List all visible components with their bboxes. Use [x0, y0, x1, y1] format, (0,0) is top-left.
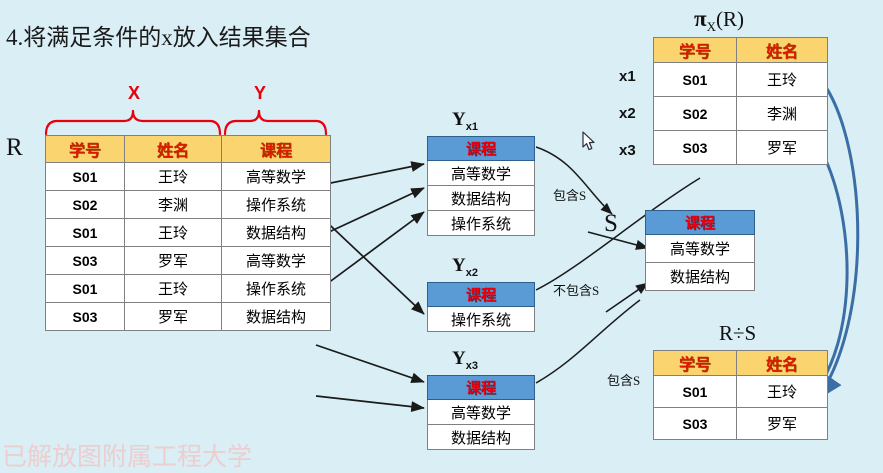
cell-xuehao: S03: [654, 408, 737, 440]
relation-s-label: S: [604, 210, 618, 238]
table-header-row: 课程: [428, 137, 535, 161]
y-group-2-subscript: x2: [466, 267, 478, 279]
projection-title: πX(R): [694, 6, 744, 35]
table-header-row: 课程: [646, 211, 755, 235]
cell-kecheng: 高等数学: [646, 235, 755, 263]
y-group-3-table[interactable]: 课程 高等数学 数据结构: [427, 375, 535, 450]
column-header-kecheng: 课程: [428, 376, 535, 400]
cell-xingming: 王玲: [125, 219, 222, 247]
column-header-kecheng: 课程: [222, 136, 331, 163]
column-header-xingming: 姓名: [737, 351, 828, 376]
cell-xuehao: S01: [654, 376, 737, 408]
column-header-kecheng: 课程: [428, 283, 535, 307]
cell-kecheng: 高等数学: [222, 247, 331, 275]
cell-xingming: 罗军: [125, 247, 222, 275]
page-title: 4.将满足条件的x放入结果集合: [6, 18, 311, 52]
projection-row-label-x3: x3: [619, 142, 636, 159]
cell-xuehao: S03: [46, 303, 125, 331]
cell-kecheng: 数据结构: [646, 263, 755, 291]
table-row: 数据结构: [428, 186, 535, 211]
cell-xuehao: S01: [46, 163, 125, 191]
cell-xingming: 罗军: [125, 303, 222, 331]
table-header-row: 课程: [428, 283, 535, 307]
column-header-xuehao: 学号: [654, 38, 737, 63]
table-row: S03罗军: [654, 131, 828, 165]
y-group-1-note: 包含S: [553, 185, 586, 204]
projection-row-label-x2: x2: [619, 105, 636, 122]
cell-xuehao: S02: [654, 97, 737, 131]
y-group-2-label: Yx2: [452, 255, 478, 279]
projection-row-label-x1: x1: [619, 68, 636, 85]
y-group-1-label: Yx1: [452, 109, 478, 133]
y-group-3-name: Y: [452, 348, 466, 369]
cell-xingming: 罗军: [737, 408, 828, 440]
cell-kecheng: 高等数学: [222, 163, 331, 191]
y-group-1-name: Y: [452, 109, 466, 130]
brace-y: [225, 111, 326, 134]
division-title: R÷S: [719, 321, 756, 346]
relation-r-table[interactable]: 学号 姓名 课程 S01王玲高等数学 S02李渊操作系统 S01王玲数据结构 S…: [45, 135, 331, 331]
brace-x: [46, 111, 220, 134]
table-row: S01王玲高等数学: [46, 163, 331, 191]
table-row: 操作系统: [428, 211, 535, 236]
table-row: S03罗军高等数学: [46, 247, 331, 275]
cell-kecheng: 数据结构: [428, 186, 535, 211]
cell-xuehao: S01: [46, 219, 125, 247]
cell-kecheng: 高等数学: [428, 400, 535, 425]
column-header-kecheng: 课程: [428, 137, 535, 161]
cell-kecheng: 操作系统: [222, 191, 331, 219]
cell-xingming: 王玲: [125, 275, 222, 303]
table-row: 操作系统: [428, 307, 535, 332]
table-header-row: 学号 姓名 课程: [46, 136, 331, 163]
cell-xuehao: S02: [46, 191, 125, 219]
column-header-xuehao: 学号: [46, 136, 125, 163]
cell-kecheng: 操作系统: [428, 307, 535, 332]
arrows-into-s: [588, 232, 648, 312]
cell-kecheng: 高等数学: [428, 161, 535, 186]
table-row: 高等数学: [428, 400, 535, 425]
slide-canvas: 4.将满足条件的x放入结果集合: [0, 0, 883, 460]
table-header-row: 学号 姓名: [654, 38, 828, 63]
pi-symbol: π: [694, 6, 707, 31]
relation-s-table[interactable]: 课程 高等数学 数据结构: [645, 210, 755, 291]
y-group-2-note: 不包含S: [553, 280, 599, 299]
brace-label-x: X: [128, 83, 140, 104]
table-row: S02李渊: [654, 97, 828, 131]
y-group-3-label: Yx3: [452, 348, 478, 372]
cell-xingming: 王玲: [737, 376, 828, 408]
pi-argument: (R): [716, 7, 744, 31]
y-group-2-table[interactable]: 课程 操作系统: [427, 282, 535, 332]
cell-kecheng: 数据结构: [428, 425, 535, 450]
y-group-1-subscript: x1: [466, 121, 478, 133]
arrows-r-to-y: [316, 164, 424, 408]
pi-subscript: X: [707, 19, 716, 34]
table-row: 数据结构: [646, 263, 755, 291]
table-row: 高等数学: [428, 161, 535, 186]
column-header-xuehao: 学号: [654, 351, 737, 376]
cell-xingming: 王玲: [737, 63, 828, 97]
table-row: 数据结构: [428, 425, 535, 450]
y-group-1-table[interactable]: 课程 高等数学 数据结构 操作系统: [427, 136, 535, 236]
y-group-2-name: Y: [452, 255, 466, 276]
brace-label-y: Y: [254, 83, 266, 104]
cell-xingming: 罗军: [737, 131, 828, 165]
y-group-3-subscript: x3: [466, 360, 478, 372]
table-row: 高等数学: [646, 235, 755, 263]
cell-xuehao: S01: [654, 63, 737, 97]
column-header-xingming: 姓名: [737, 38, 828, 63]
table-row: S01王玲: [654, 376, 828, 408]
cell-xuehao: S03: [654, 131, 737, 165]
cell-xingming: 李渊: [737, 97, 828, 131]
table-header-row: 课程: [428, 376, 535, 400]
y-group-3-note: 包含S: [607, 370, 640, 389]
cell-kecheng: 数据结构: [222, 303, 331, 331]
table-header-row: 学号 姓名: [654, 351, 828, 376]
table-row: S03罗军: [654, 408, 828, 440]
mouse-cursor-icon: [582, 131, 598, 153]
projection-table[interactable]: 学号 姓名 S01王玲 S02李渊 S03罗军: [653, 37, 828, 165]
cell-kecheng: 数据结构: [222, 219, 331, 247]
cell-xuehao: S03: [46, 247, 125, 275]
column-header-xingming: 姓名: [125, 136, 222, 163]
division-table[interactable]: 学号 姓名 S01王玲 S03罗军: [653, 350, 828, 440]
cell-kecheng: 操作系统: [428, 211, 535, 236]
cell-kecheng: 操作系统: [222, 275, 331, 303]
cell-xingming: 李渊: [125, 191, 222, 219]
table-row: S01王玲操作系统: [46, 275, 331, 303]
table-row: S03罗军数据结构: [46, 303, 331, 331]
table-row: S01王玲数据结构: [46, 219, 331, 247]
column-header-kecheng: 课程: [646, 211, 755, 235]
table-row: S01王玲: [654, 63, 828, 97]
watermark-text: 已解放图附属工程大学: [2, 437, 252, 473]
cell-xuehao: S01: [46, 275, 125, 303]
cell-xingming: 王玲: [125, 163, 222, 191]
relation-r-label: R: [6, 134, 23, 162]
table-row: S02李渊操作系统: [46, 191, 331, 219]
